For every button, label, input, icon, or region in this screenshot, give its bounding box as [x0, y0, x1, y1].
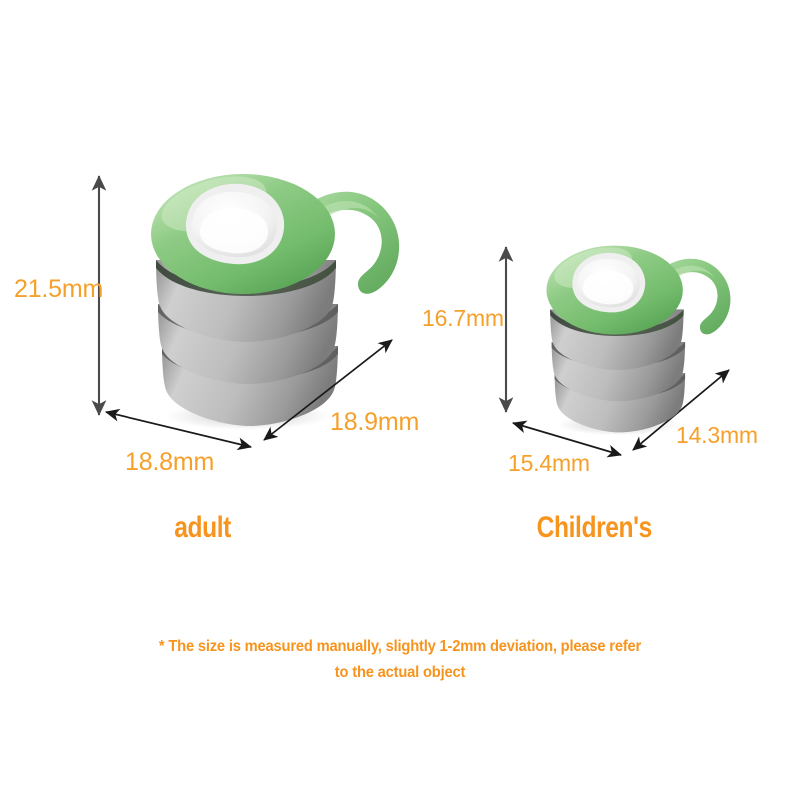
product-image-children — [522, 240, 737, 435]
dimension-label-children-depth: 14.3mm — [676, 422, 758, 449]
footnote: * The size is measured manually, slightl… — [20, 634, 780, 686]
dimension-label-children-height: 16.7mm — [422, 305, 504, 332]
infographic-canvas: 21.5mm 18.8mm 18.9mm 16.7mm 15.4mm 14.3m… — [0, 0, 800, 800]
children-earplug-illustration — [522, 240, 737, 435]
dimension-label-adult-width: 18.8mm — [125, 448, 214, 477]
footnote-line-2: to the actual object — [20, 660, 780, 686]
dimension-label-adult-height: 21.5mm — [14, 275, 103, 304]
dimension-label-adult-depth: 18.9mm — [330, 408, 419, 437]
footnote-line-1: * The size is measured manually, slightl… — [20, 634, 780, 660]
product-title-children: Children's — [537, 511, 652, 545]
product-image-adult — [118, 168, 408, 428]
dimension-label-children-width: 15.4mm — [508, 450, 590, 477]
adult-earplug-illustration — [118, 168, 408, 428]
product-title-adult: adult — [174, 511, 231, 545]
